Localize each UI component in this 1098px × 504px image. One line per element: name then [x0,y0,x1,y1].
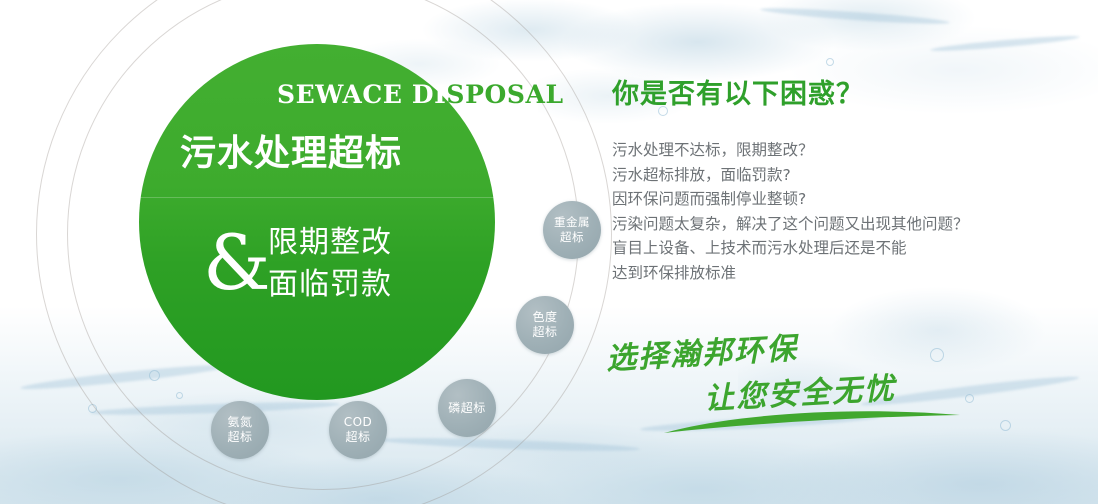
water-bubble [826,58,834,66]
bubble-phosphorus[interactable]: 磷超标 [438,379,496,437]
list-item: 污染问题太复杂，解决了这个问题又出现其他问题？ [612,212,1042,237]
green-circle-divider [139,197,495,198]
water-streak [930,33,1080,53]
bubble-label-line2: 超标 [227,430,252,445]
bubble-label-line1: 重金属 [554,215,590,230]
bubble-heavy-metal[interactable]: 重金属 超标 [543,201,601,259]
bubble-label-line1: 磷超标 [448,401,486,416]
ampersand-glyph: & [203,225,271,301]
right-column: 你是否有以下困惑？ 污水处理不达标，限期整改？ 污水超标排放，面临罚款? 因环保… [612,78,1042,285]
right-heading: 你是否有以下困惑？ [612,78,1042,112]
water-streak [760,5,950,26]
bubble-label-line2: 超标 [560,230,584,245]
bubble-chromaticity[interactable]: 色度 超标 [516,296,574,354]
bubble-cod[interactable]: COD 超标 [329,401,387,459]
bubble-ammonia-nitrogen[interactable]: 氨氮 超标 [211,401,269,459]
bubble-label-line1: 色度 [532,310,557,325]
slogan-swoosh-icon [662,408,962,434]
pain-point-list: 污水处理不达标，限期整改？ 污水超标排放，面临罚款? 因环保问题而强制停业整顿?… [612,138,1042,285]
list-item: 污水处理不达标，限期整改？ [612,138,1042,163]
eyebrow-white-part: SEWACE DI [277,80,446,109]
sewage-disposal-banner: SEWACE DISPOSAL 污水处理超标 & 限期整改 面临罚款 氨氮 超标… [0,0,1098,504]
eyebrow-sewace-disposal: SEWACE DISPOSAL [277,80,564,110]
circle-subtitle-line2: 面临罚款 [268,264,392,306]
eyebrow-green-part: SPOSAL [446,80,563,109]
list-item: 污水超标排放，面临罚款? [612,163,1042,188]
list-item: 达到环保排放标准 [612,261,1042,286]
circle-title: 污水处理超标 [180,133,402,175]
circle-subtitle-line1: 限期整改 [268,222,392,264]
bubble-label-line1: COD [344,415,373,430]
water-bubble [1000,420,1011,431]
bubble-label-line2: 超标 [345,430,370,445]
bubble-label-line1: 氨氮 [227,415,252,430]
list-item: 盲目上设备、上技术而污水处理后还是不能 [612,236,1042,261]
circle-subtitle: 限期整改 面临罚款 [268,222,392,306]
bubble-label-line2: 超标 [532,325,557,340]
list-item: 因环保问题而强制停业整顿? [612,187,1042,212]
slogan-block: 选择瀚邦环保 让您安全无忧 [600,330,980,440]
